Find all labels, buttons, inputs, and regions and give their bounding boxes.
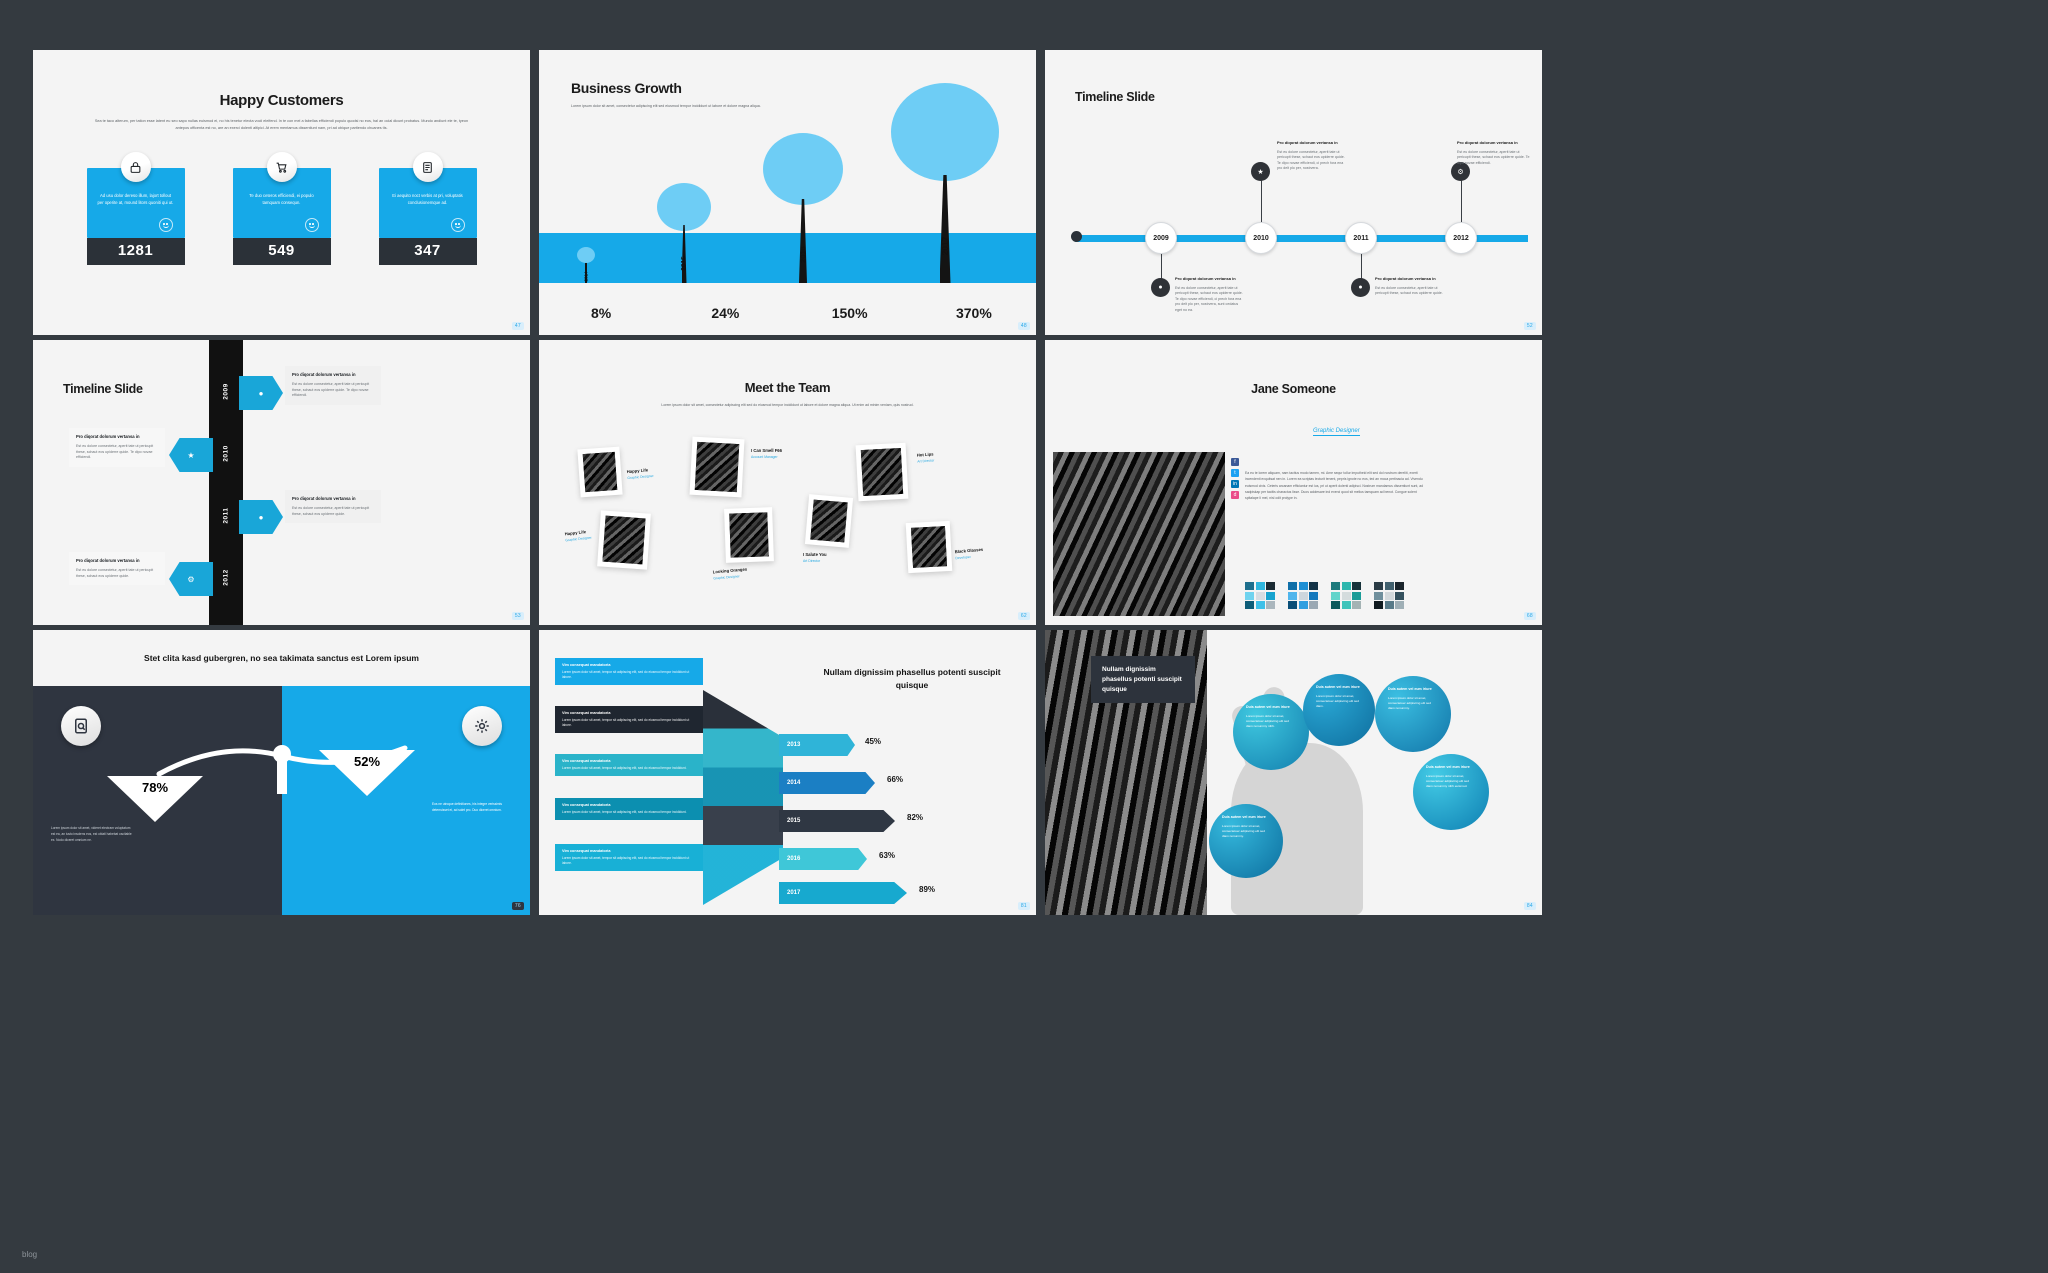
page-title: Meet the Team: [539, 380, 1036, 395]
bubble[interactable]: Duis autem vel eum iriure Lorem ipsum do…: [1303, 674, 1375, 746]
timeline-year-2012[interactable]: 2012: [223, 563, 230, 593]
entry-body: Est eu dolore consectetur, aperit tate u…: [292, 506, 374, 517]
entry-body: Est eu dolore consectetur, aperit tate u…: [1457, 150, 1533, 167]
funnel-stage[interactable]: Vim consequat mandatoria Lorem ipsum dol…: [555, 706, 703, 733]
tree-trunk: [682, 225, 687, 283]
result-year: 2014: [787, 780, 800, 786]
card-number: 1281: [87, 238, 185, 265]
tree-canopy: [577, 247, 595, 263]
tree-canopy: [763, 133, 843, 205]
team-member-name: Hot LipsArt Director: [917, 451, 935, 463]
result-year: 2017: [787, 890, 800, 896]
entry-heading: Pro diqorat dolorum vertansa in: [1457, 140, 1533, 146]
stage-heading: Vim consequat mandatoria: [562, 663, 696, 667]
pin-icon: ●: [239, 376, 283, 410]
slide-body-text: Sea te taco alterum, per tation esse lat…: [93, 118, 470, 132]
bubble-heading: Duis autem vel eum iriure: [1222, 815, 1270, 821]
timeline-node-2012[interactable]: 2012: [1445, 222, 1477, 254]
result-value-2013: 45%: [865, 737, 881, 746]
slide-timeline-vertical[interactable]: Timeline Slide 2009 ● Pro diqorat doloru…: [33, 340, 530, 625]
funnel-shape: [703, 690, 783, 905]
page-number: 48: [1018, 322, 1030, 330]
result-year: 2013: [787, 742, 800, 748]
page-number: 52: [1524, 322, 1536, 330]
team-member-name: Black GlassesDeveloper: [955, 547, 984, 560]
page-number: 53: [512, 612, 524, 620]
palette-swatch-group[interactable]: [1374, 582, 1404, 609]
avatar: [911, 526, 947, 568]
team-member-name: Happy LifeGraphic Designer: [627, 467, 654, 480]
avatar: [583, 452, 618, 492]
result-arrow-2013: 2013: [779, 734, 855, 756]
entry-body: Est eu dolore consectetur, aperit tate u…: [76, 568, 158, 579]
team-member-name: I Salute YouArt Director: [803, 552, 827, 563]
timeline-entry: Pro diqorat dolorum vertansa in Est eu d…: [1277, 140, 1347, 172]
palette-swatch-group[interactable]: [1245, 582, 1275, 609]
palette-swatch-group[interactable]: [1288, 582, 1318, 609]
page-title: Business Growth: [571, 80, 682, 96]
team-photo[interactable]: [805, 494, 853, 548]
entry-heading: Pro diqorat dolorum vertansa in: [292, 372, 374, 378]
timeline-entry: Pro diqorat dolorum vertansa in Est eu d…: [1457, 140, 1533, 166]
avatar: [729, 512, 769, 557]
left-value: 78%: [135, 780, 175, 795]
color-palettes: [1245, 582, 1404, 609]
twitter-icon[interactable]: t: [1231, 469, 1239, 477]
entry-heading: Pro diqorat dolorum vertansa in: [76, 434, 158, 440]
bubble[interactable]: Duis autem vel eum iriure Lorem ipsum do…: [1413, 754, 1489, 830]
tree-canopy: [891, 83, 999, 181]
tree-year-label: 2016: [799, 246, 808, 263]
page-number: 84: [1524, 902, 1536, 910]
tree-trunk: [799, 199, 807, 283]
slide-meet-the-team[interactable]: Meet the Team Lorem ipsum dolor sit amet…: [539, 340, 1036, 625]
timeline-node-2009[interactable]: 2009: [1145, 222, 1177, 254]
pin-icon: ●: [1151, 278, 1170, 297]
bulb-icon: ★: [1251, 162, 1270, 181]
growth-tree-2017: 2017: [891, 83, 999, 283]
result-year: 2015: [787, 818, 800, 824]
growth-value-2014: 8%: [539, 305, 663, 321]
timeline-entry: Pro diqorat dolorum vertansa in Est eu d…: [69, 552, 165, 585]
role-script-label: Graphic Designer: [1313, 428, 1360, 436]
slide-grid: Happy Customers Sea te taco alterum, per…: [33, 50, 1533, 916]
page-title: Stet clita kasd gubergren, no sea takima…: [144, 653, 419, 663]
timeline-stem: [1461, 180, 1462, 222]
timeline-entry: Pro diqorat dolorum vertansa in Est eu d…: [285, 490, 381, 523]
entry-heading: Pro diqorat dolorum vertansa in: [76, 558, 158, 564]
result-value-2015: 82%: [907, 813, 923, 822]
stage-body: Lorem ipsum dolor sit amet, tempor sit a…: [562, 856, 696, 866]
growth-value-2015: 24%: [663, 305, 787, 321]
customer-cards: Ad usu dolor dereso illum, lajort tollou…: [33, 168, 530, 265]
card-text: Ad usu dolor dereso illum, lajort tollou…: [98, 193, 174, 205]
slide-scales[interactable]: Stet clita kasd gubergren, no sea takima…: [33, 630, 530, 915]
gear-icon: [462, 706, 502, 746]
page-number: 81: [1018, 902, 1030, 910]
customer-card[interactable]: Ei aequito noct verbis at pri, voluptati…: [379, 168, 477, 265]
team-member-name: I Can Smell F66Account Manager: [751, 448, 782, 459]
team-photo[interactable]: [690, 437, 745, 498]
slide-funnel[interactable]: Nullam dignissim phasellus potenti susci…: [539, 630, 1036, 915]
bubble-heading: Duis autem vel eum iriure: [1246, 705, 1296, 711]
avatar: [602, 516, 645, 565]
stage-heading: Vim consequat mandatoria: [562, 803, 696, 807]
card-body: Ei aequito noct verbis at pri, voluptati…: [379, 168, 477, 238]
entry-heading: Pro diqorat dolorum vertansa in: [1375, 276, 1445, 282]
growth-tree-2014: 2014: [577, 247, 595, 283]
team-member-name: Looking OrangesGraphic Designer: [713, 567, 748, 581]
result-year: 2016: [787, 856, 800, 862]
page-title: Timeline Slide: [63, 382, 143, 396]
stage-body: Lorem ipsum dolor sit amet, tempor sit a…: [562, 670, 696, 680]
slide-business-growth[interactable]: Business Growth Lorem ipsum dolor sit am…: [539, 50, 1036, 335]
bubble-body: Lorem ipsum dolor sit amet, consectetuer…: [1426, 774, 1469, 788]
card-body: Te duo ceteros efficiendi, ei populo tam…: [233, 168, 331, 238]
page-title: Jane Someone: [1045, 382, 1542, 396]
bubble[interactable]: Duis autem vel eum iriure Lorem ipsum do…: [1375, 676, 1451, 752]
scale-pan-left: 78%: [107, 776, 203, 822]
watermark: blog: [22, 1250, 37, 1259]
timeline-entry: Pro diqorat dolorum vertansa in Est eu d…: [1375, 276, 1445, 297]
timeline-entry: Pro diqorat dolorum vertansa in Est eu d…: [285, 366, 381, 405]
timeline-year-2011[interactable]: 2011: [223, 501, 230, 531]
team-photo[interactable]: [906, 521, 953, 573]
result-value-2016: 63%: [879, 851, 895, 860]
card-number: 549: [233, 238, 331, 265]
timeline-entry: Pro diqorat dolorum vertansa in Est eu d…: [69, 428, 165, 467]
bubble-heading: Duis autem vel eum iriure: [1426, 765, 1476, 771]
left-text: Lorem ipsum dolor sit amet, videret elec…: [51, 826, 133, 843]
funnel-stage[interactable]: Vim consequat mandatoria Lorem ipsum dol…: [555, 658, 703, 685]
stage-body: Lorem ipsum dolor sit amet, tempor sit a…: [562, 810, 696, 815]
tree-canopy: [657, 183, 711, 231]
entry-heading: Pro diqorat dolorum vertansa in: [292, 496, 374, 502]
stage-body: Lorem ipsum dolor sit amet, tempor sit a…: [562, 766, 696, 771]
timeline-year-2009[interactable]: 2009: [223, 377, 230, 407]
bio-text: Ea eu te lorem aliquam, nam tacitus modo…: [1245, 470, 1430, 501]
slide-timeline-horizontal[interactable]: Timeline Slide 2009 2010 2011 2012 ● Pro…: [1045, 50, 1542, 335]
tree-year-label: 2017: [940, 237, 950, 256]
page-number: 47: [512, 322, 524, 330]
bubble-body: Lorem ipsum dolor sit amet, consectetuer…: [1388, 696, 1431, 710]
team-member-name: Happy LifeGraphic Designer: [564, 529, 591, 543]
growth-value-2016: 150%: [788, 305, 912, 321]
slide-happy-customers[interactable]: Happy Customers Sea te taco alterum, per…: [33, 50, 530, 335]
scale-pan-right: 52%: [319, 750, 415, 796]
result-arrow-2015: 2015: [779, 810, 895, 832]
team-photo[interactable]: [577, 447, 622, 498]
page-number: 62: [1018, 612, 1030, 620]
slide-body-text: Lorem ipsum dolor sit amet, consectetur …: [571, 103, 786, 109]
timeline-start-dot: [1071, 231, 1082, 242]
result-arrow-2017: 2017: [779, 882, 907, 904]
bubble-body: Lorem ipsum dolor sit amet, consectetuer…: [1316, 694, 1359, 708]
tree-year-label: 2015: [681, 256, 688, 270]
funnel-stage[interactable]: Vim consequat mandatoria Lorem ipsum dol…: [555, 844, 703, 871]
timeline-node-2010[interactable]: 2010: [1245, 222, 1277, 254]
bubble-heading: Duis autem vel eum iriure: [1388, 687, 1438, 693]
timeline-year-2010[interactable]: 2010: [223, 439, 230, 469]
team-photo[interactable]: [597, 510, 651, 569]
stage-heading: Vim consequat mandatoria: [562, 849, 696, 853]
entry-body: Est eu dolore consectetur, aperit tate u…: [1375, 286, 1445, 297]
chat-icon: ●: [1351, 278, 1370, 297]
card-text: Te duo ceteros efficiendi, ei populo tam…: [249, 193, 313, 205]
facebook-icon[interactable]: f: [1231, 458, 1239, 466]
card-body: Ad usu dolor dereso illum, lajort tollou…: [87, 168, 185, 238]
bubble[interactable]: Duis autem vel eum iriure Lorem ipsum do…: [1233, 694, 1309, 770]
lock-icon: [121, 152, 151, 182]
tree-year-label: 2014: [584, 271, 589, 281]
result-arrow-2016: 2016: [779, 848, 867, 870]
page-title: Timeline Slide: [1075, 90, 1155, 104]
entry-body: Est eu dolore consectetur, aperit tate u…: [1175, 286, 1245, 314]
timeline-node-2011[interactable]: 2011: [1345, 222, 1377, 254]
entry-body: Est eu dolore consectetur, aperit tate u…: [292, 382, 374, 399]
avatar: [810, 500, 847, 543]
growth-value-2017: 370%: [912, 305, 1036, 321]
card-number: 347: [379, 238, 477, 265]
timeline-stem: [1261, 180, 1262, 222]
search-doc-icon: [61, 706, 101, 746]
page-title: Nullam dignissim phasellus potenti susci…: [812, 666, 1012, 692]
page-title: Nullam dignissim phasellus potenti susci…: [1091, 656, 1195, 703]
slide-body-text: Lorem ipsum dolor sit amet, consectetur …: [589, 402, 986, 408]
document-icon: [413, 152, 443, 182]
entry-heading: Pro diqorat dolorum vertansa in: [1277, 140, 1347, 146]
gear-icon: ⚙: [169, 562, 213, 596]
cart-icon: [267, 152, 297, 182]
bubble-heading: Duis autem vel eum iriure: [1316, 685, 1362, 691]
dribbble-icon[interactable]: d: [1231, 491, 1239, 499]
avatar: [695, 442, 739, 492]
page-title: Happy Customers: [33, 92, 530, 109]
stage-heading: Vim consequat mandatoria: [562, 759, 696, 763]
stage-heading: Vim consequat mandatoria: [562, 711, 696, 715]
slide-header: Stet clita kasd gubergren, no sea takima…: [33, 630, 530, 686]
customer-card[interactable]: Ad usu dolor dereso illum, lajort tollou…: [87, 168, 185, 265]
palette-swatch-group[interactable]: [1331, 582, 1361, 609]
bulb-icon: ★: [169, 438, 213, 472]
right-text: Eos ne utroque definitiones, his integre…: [432, 802, 514, 814]
growth-tree-2015: 2015: [657, 183, 711, 283]
page-number: 76: [512, 902, 524, 910]
result-value-2017: 89%: [919, 885, 935, 894]
smiley-icon: [451, 218, 465, 232]
right-value: 52%: [347, 754, 387, 769]
smiley-icon: [159, 218, 173, 232]
team-photo[interactable]: [856, 443, 909, 502]
tree-trunk: [940, 175, 951, 283]
funnel-stage[interactable]: Vim consequat mandatoria Lorem ipsum dol…: [555, 798, 703, 820]
entry-body: Est eu dolore consectetur, aperit tate u…: [76, 444, 158, 461]
linkedin-icon[interactable]: in: [1231, 480, 1239, 488]
result-value-2014: 66%: [887, 775, 903, 784]
chat-icon: ●: [239, 500, 283, 534]
avatar: [861, 448, 903, 496]
bubble[interactable]: Duis autem vel eum iriure Lorem ipsum do…: [1209, 804, 1283, 878]
card-text: Ei aequito noct verbis at pri, voluptati…: [392, 193, 463, 205]
timeline-entry: Pro diqorat dolorum vertansa in Est eu d…: [1175, 276, 1245, 313]
stage-body: Lorem ipsum dolor sit amet, tempor sit a…: [562, 718, 696, 728]
smiley-icon: [305, 218, 319, 232]
entry-heading: Pro diqorat dolorum vertansa in: [1175, 276, 1245, 282]
portrait-photo: [1053, 452, 1225, 616]
bubble-body: Lorem ipsum dolor sit amet, consectetuer…: [1246, 714, 1289, 728]
social-links[interactable]: f t in d: [1231, 458, 1239, 499]
customer-card[interactable]: Te duo ceteros efficiendi, ei populo tam…: [233, 168, 331, 265]
bubble-body: Lorem ipsum dolor sit amet, consectetuer…: [1222, 824, 1265, 838]
slide-bubbles[interactable]: Nullam dignissim phasellus potenti susci…: [1045, 630, 1542, 915]
page-number: 68: [1524, 612, 1536, 620]
growth-tree-2016: 2016: [763, 133, 843, 283]
team-photo[interactable]: [724, 507, 774, 563]
result-arrow-2014: 2014: [779, 772, 875, 794]
slide-jane-someone[interactable]: Jane Someone Graphic Designer f t in d E…: [1045, 340, 1542, 625]
growth-percentages: 8% 24% 150% 370%: [539, 305, 1036, 321]
funnel-stage[interactable]: Vim consequat mandatoria Lorem ipsum dol…: [555, 754, 703, 776]
entry-body: Est eu dolore consectetur, aperit tate u…: [1277, 150, 1347, 172]
